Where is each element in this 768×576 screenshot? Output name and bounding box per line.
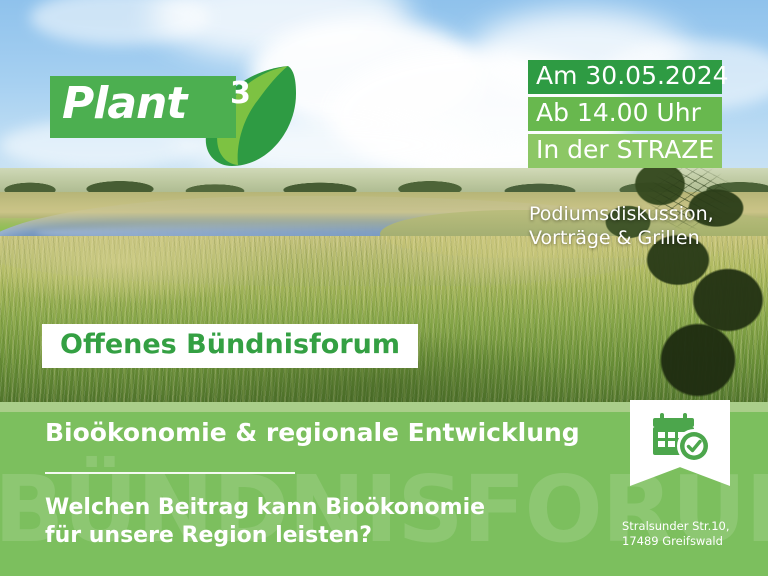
event-subnote: Podiumsdiskussion, Vorträge & Grillen <box>529 203 759 251</box>
event-time-box: Ab 14.00 Uhr <box>528 97 722 131</box>
band-divider <box>45 472 295 474</box>
logo-wordmark: Plant <box>62 82 186 126</box>
plant3-logo: Plant 3 <box>50 60 280 152</box>
calendar-check-icon <box>650 412 712 464</box>
logo-superscript: 3 <box>230 76 251 111</box>
forum-banner-label: Offenes Bündnisforum <box>60 329 400 360</box>
forum-banner: Offenes Bündnisforum <box>42 324 418 368</box>
band-title: Bioökonomie & regionale Entwicklung <box>45 418 580 447</box>
event-date-box: Am 30.05.2024 <box>528 60 722 94</box>
event-venue-box: In der STRAZE <box>528 134 722 168</box>
event-poster: Plant 3 Am 30.05.2024 Ab 14.00 Uhr In de… <box>0 0 768 576</box>
venue-address: Stralsunder Str.10, 17489 Greifswald <box>622 519 752 549</box>
band-question: Welchen Beitrag kann Bioökonomie für uns… <box>45 494 515 550</box>
